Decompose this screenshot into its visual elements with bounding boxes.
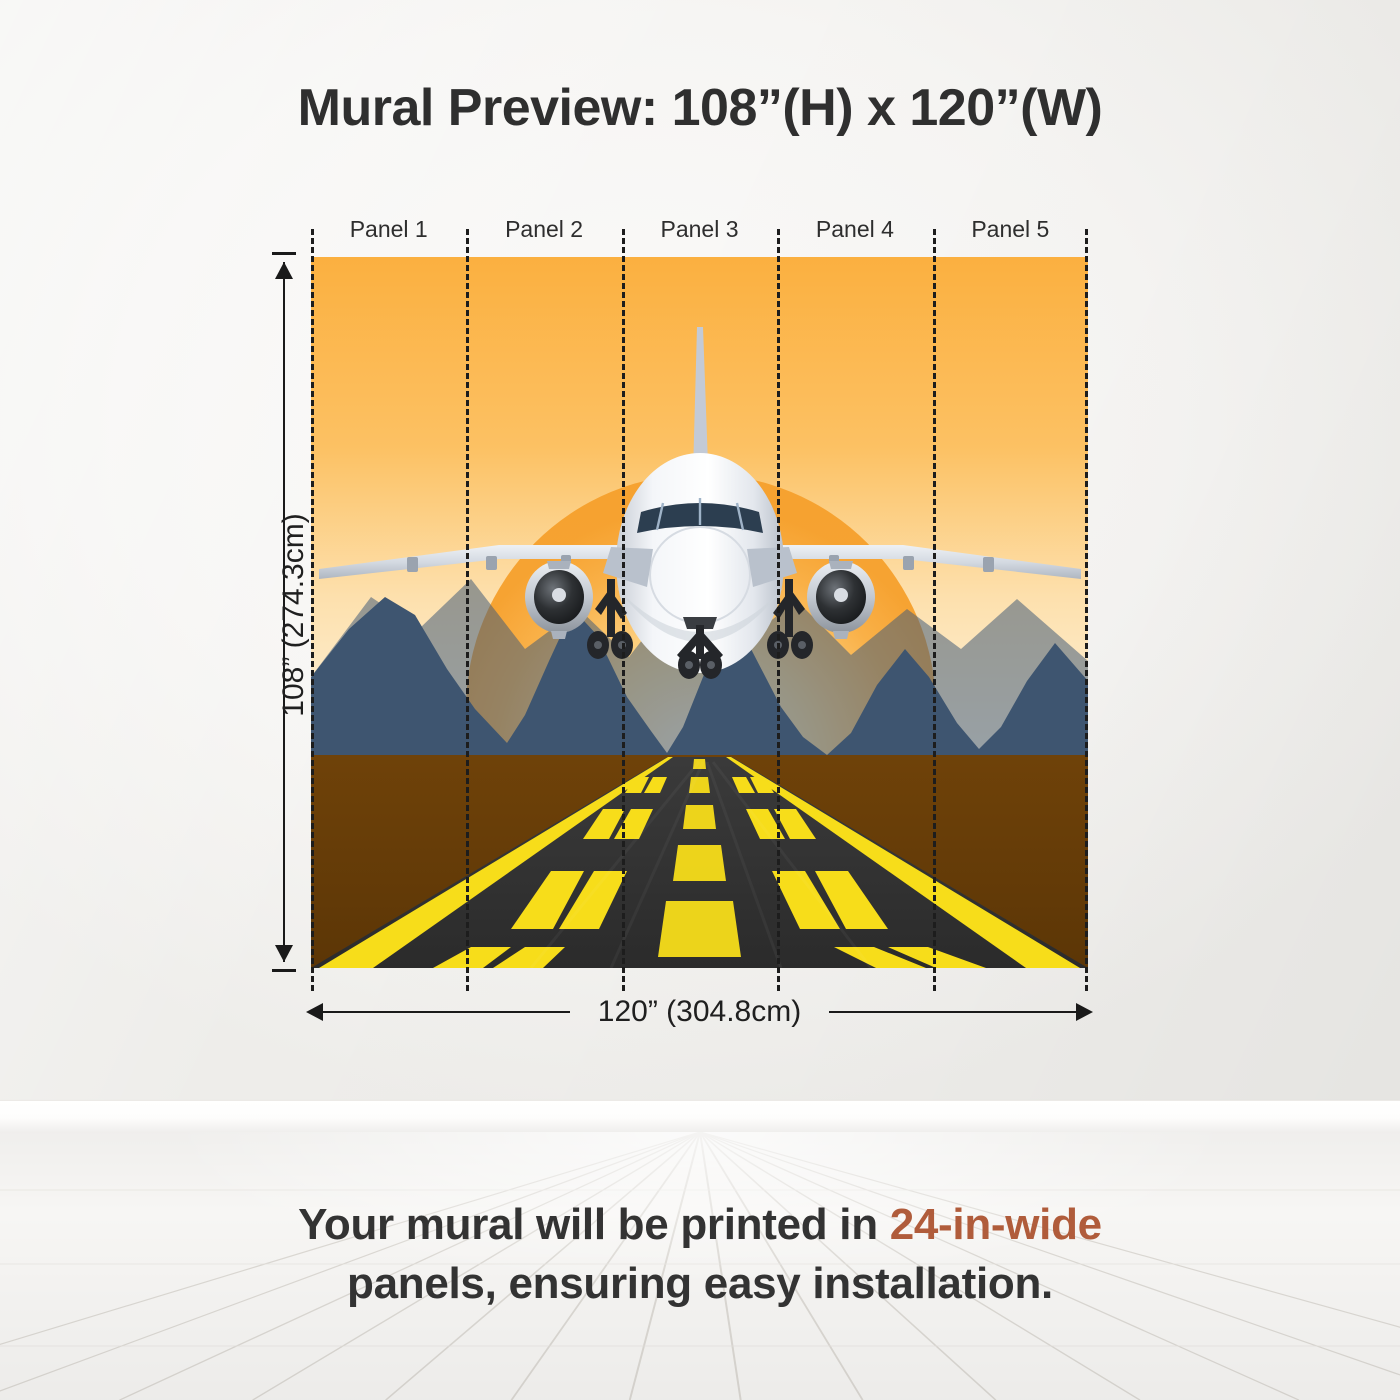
page-title: Mural Preview: 108”(H) x 120”(W) xyxy=(0,78,1400,138)
height-tick-bottom xyxy=(272,969,296,972)
panel-guide-3 xyxy=(777,229,780,991)
height-arrow-down-icon xyxy=(275,945,293,962)
height-dimension-label: 108” (274.3cm) xyxy=(277,295,311,935)
panel-guide-1 xyxy=(466,229,469,991)
caption-accent-text: 24-in-wide xyxy=(890,1200,1102,1249)
panel-guide-4 xyxy=(933,229,936,991)
height-dimension: 108” (274.3cm) xyxy=(256,252,312,972)
height-tick-top xyxy=(272,252,296,255)
panel-guide-lines xyxy=(311,229,1088,991)
footer-caption: Your mural will be printed in 24-in-wide… xyxy=(0,1196,1400,1313)
width-dimension-label: 120” (304.8cm) xyxy=(306,992,1093,1032)
height-arrow-up-icon xyxy=(275,262,293,279)
panel-guide-2 xyxy=(622,229,625,991)
caption-line1-prefix: Your mural will be printed in xyxy=(298,1200,890,1249)
width-dimension: 120” (304.8cm) xyxy=(306,992,1093,1032)
caption-line2: panels, ensuring easy installation. xyxy=(347,1259,1053,1308)
mural-preview-screenshot: Mural Preview: 108”(H) x 120”(W) Panel 1… xyxy=(0,0,1400,1400)
panel-guide-5 xyxy=(1085,229,1088,991)
wall-baseboard xyxy=(0,1100,1400,1132)
